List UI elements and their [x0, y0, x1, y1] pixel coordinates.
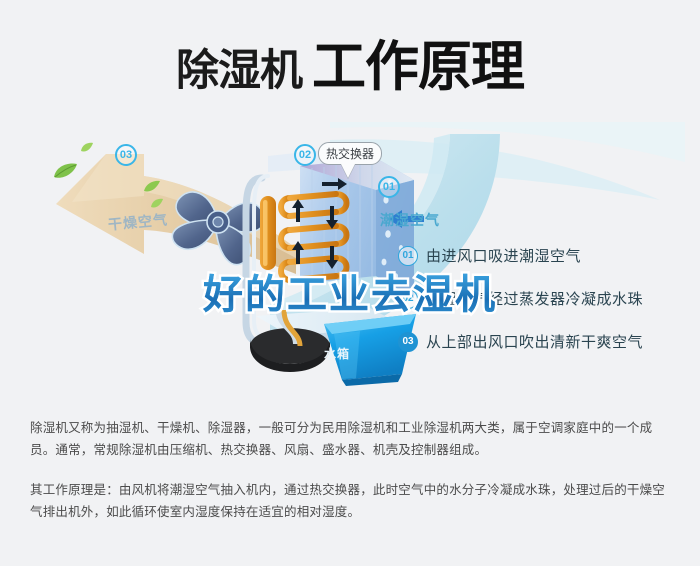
paragraph: 其工作原理是：由风机将潮湿空气抽入机内，通过热交换器，此时空气中的水分子冷凝成水…	[30, 479, 675, 523]
page-title-prefix: 除湿机	[176, 36, 302, 98]
diagram-badge-dry-air: 03	[115, 144, 137, 166]
list-item: 03 从上部出风口吹出清新干爽空气	[398, 331, 698, 352]
heat-exchanger-callout: 热交换器	[318, 142, 382, 165]
page-title: 除湿机 工作原理	[0, 22, 700, 101]
water-tank-label: 水箱	[324, 345, 350, 362]
leaf-icon	[80, 142, 94, 153]
step-description: 从上部出风口吹出清新干爽空气	[426, 331, 643, 352]
page-title-main: 工作原理	[312, 22, 524, 101]
step-number-badge: 03	[398, 332, 418, 352]
diagram-illustration: 03 02 01 干燥空气 潮湿空气 热交换器 水箱 01 由进风口吸进潮湿空气…	[0, 118, 700, 398]
leaf-icon	[52, 162, 78, 180]
diagram-badge-heat-exchanger: 02	[294, 144, 316, 166]
infographic-page: 除湿机 工作原理	[0, 0, 700, 566]
watermark-text: 好的工业去湿机	[0, 262, 700, 320]
paragraph: 除湿机又称为抽湿机、干燥机、除湿器，一般可分为民用除湿机和工业除湿机两大类，属于…	[30, 417, 675, 461]
description-block: 除湿机又称为抽湿机、干燥机、除湿器，一般可分为民用除湿机和工业除湿机两大类，属于…	[30, 417, 675, 523]
watermark-text-fill: 好的工业去湿机	[203, 272, 497, 318]
humid-air-label: 潮湿空气	[380, 210, 440, 230]
diagram-badge-humid-air: 01	[378, 176, 400, 198]
